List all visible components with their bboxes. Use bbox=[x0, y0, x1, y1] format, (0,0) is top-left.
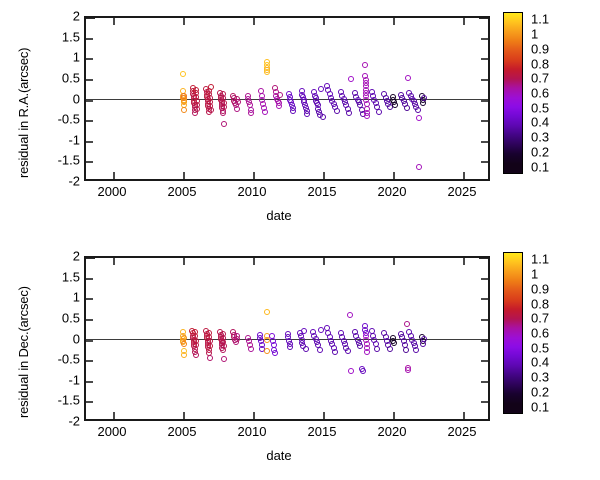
y-tick-mark bbox=[479, 258, 488, 259]
x-tick-labels-dec: 200020052010201520202025 bbox=[84, 424, 490, 444]
data-point bbox=[221, 121, 227, 127]
x-tick-label: 2025 bbox=[448, 424, 477, 439]
x-tick-label: 2010 bbox=[238, 424, 267, 439]
data-point bbox=[180, 71, 186, 77]
data-point bbox=[405, 75, 411, 81]
data-point bbox=[421, 336, 427, 342]
colorbar-band bbox=[504, 309, 522, 318]
y-tick-label: 1 bbox=[73, 290, 80, 305]
data-point bbox=[181, 352, 187, 358]
colorbar-band bbox=[504, 394, 522, 403]
y-tick-label: 1.5 bbox=[62, 29, 80, 44]
data-point bbox=[264, 348, 270, 354]
x-tick-label: 2005 bbox=[168, 424, 197, 439]
y-tick-mark bbox=[86, 340, 93, 342]
y-tick-mark bbox=[481, 278, 488, 280]
colorbar-band bbox=[504, 281, 522, 290]
x-tick-mark bbox=[393, 172, 395, 179]
data-point bbox=[364, 349, 370, 355]
y-tick-mark bbox=[481, 360, 488, 362]
colorbar-band bbox=[504, 107, 522, 116]
y-tick-mark bbox=[481, 38, 488, 40]
colorbar-band bbox=[504, 347, 522, 356]
y-axis-label-dec: residual in Dec.(arcsec) bbox=[16, 286, 31, 418]
y-tick-label: 1.5 bbox=[62, 269, 80, 284]
colorbar-band bbox=[504, 385, 522, 394]
y-tick-mark bbox=[86, 319, 93, 321]
data-point bbox=[320, 114, 326, 120]
colorbar-band bbox=[504, 145, 522, 154]
y-tick-label: 0.5 bbox=[62, 70, 80, 85]
colorbar-tick-label: 0.4 bbox=[531, 115, 549, 130]
data-point bbox=[413, 347, 419, 353]
y-tick-label: -2 bbox=[68, 174, 80, 189]
data-point bbox=[181, 93, 187, 99]
data-point bbox=[404, 105, 410, 111]
x-tick-mark bbox=[113, 18, 115, 25]
x-tick-mark bbox=[113, 172, 115, 179]
y-tick-mark bbox=[481, 161, 488, 163]
x-tick-mark bbox=[253, 412, 255, 419]
y-tick-label: 2 bbox=[73, 249, 80, 264]
colorbar-band bbox=[504, 366, 522, 375]
data-point bbox=[181, 341, 187, 347]
colorbar-tick-label: 1 bbox=[531, 267, 538, 282]
panel-residual-ra: residual in R.A.(arcsec) 21.510.50-0.5-1… bbox=[0, 0, 600, 240]
y-tick-mark bbox=[481, 381, 488, 383]
y-tick-label: 0 bbox=[73, 331, 80, 346]
colorbar-band bbox=[504, 79, 522, 88]
y-tick-label: 1 bbox=[73, 50, 80, 65]
colorbar-band bbox=[504, 154, 522, 163]
colorbar-tick-label: 1.1 bbox=[531, 252, 549, 267]
colorbar-band bbox=[504, 338, 522, 347]
data-point bbox=[262, 109, 268, 115]
data-point bbox=[272, 350, 278, 356]
x-axis-label-dec: date bbox=[0, 448, 600, 463]
colorbar-band bbox=[504, 253, 522, 262]
colorbar-band bbox=[504, 22, 522, 31]
colorbar-tick-label: 0.2 bbox=[531, 144, 549, 159]
x-tick-mark bbox=[323, 172, 325, 179]
y-tick-mark bbox=[479, 18, 488, 19]
y-tick-labels-dec: 21.510.50-0.5-1-1.5-2 bbox=[30, 256, 80, 421]
data-point bbox=[317, 347, 323, 353]
colorbar-tick-label: 0.4 bbox=[531, 355, 549, 370]
colorbar-band bbox=[504, 404, 522, 413]
y-tick-label: -1 bbox=[68, 132, 80, 147]
y-tick-mark bbox=[481, 79, 488, 81]
plot-frame-dec bbox=[84, 256, 490, 421]
colorbar-tick-label: 0.3 bbox=[531, 370, 549, 385]
colorbar-band bbox=[504, 32, 522, 41]
colorbar-tick-label: 0.1 bbox=[531, 399, 549, 414]
data-point bbox=[304, 111, 310, 117]
plot-area-ra bbox=[86, 18, 488, 179]
x-tick-mark bbox=[183, 18, 185, 25]
data-point bbox=[392, 102, 398, 108]
y-tick-label: 0 bbox=[73, 91, 80, 106]
data-point bbox=[234, 106, 240, 112]
y-tick-mark bbox=[86, 38, 93, 40]
y-tick-mark bbox=[86, 298, 93, 300]
data-point bbox=[376, 109, 382, 115]
colorbar-tick-label: 0.5 bbox=[531, 340, 549, 355]
colorbar-tick-label: 0.9 bbox=[531, 281, 549, 296]
colorbar-band bbox=[504, 41, 522, 50]
colorbar-tick-label: 1.1 bbox=[531, 12, 549, 27]
colorbar-tick-label: 0.1 bbox=[531, 159, 549, 174]
data-point bbox=[364, 113, 370, 119]
colorbar-tick-label: 0.7 bbox=[531, 71, 549, 86]
data-point bbox=[347, 312, 353, 318]
data-point bbox=[290, 108, 296, 114]
data-point bbox=[248, 110, 254, 116]
colorbar-band bbox=[504, 51, 522, 60]
y-tick-mark bbox=[86, 58, 93, 60]
y-axis-label-ra: residual in R.A.(arcsec) bbox=[16, 48, 31, 178]
data-point bbox=[362, 62, 368, 68]
x-tick-label: 2010 bbox=[238, 184, 267, 199]
data-point bbox=[405, 367, 411, 373]
y-tick-mark bbox=[481, 100, 488, 102]
colorbar-tick-labels-dec: 1.110.90.80.70.60.50.40.30.20.1 bbox=[531, 252, 591, 414]
y-tick-label: -1.5 bbox=[58, 153, 80, 168]
colorbar-tick-labels-ra: 1.110.90.80.70.60.50.40.30.20.1 bbox=[531, 12, 591, 174]
colorbar-tick-label: 0.8 bbox=[531, 56, 549, 71]
colorbar-band bbox=[504, 328, 522, 337]
x-tick-label: 2000 bbox=[98, 184, 127, 199]
x-tick-mark bbox=[113, 412, 115, 419]
data-point bbox=[345, 348, 351, 354]
y-tick-label: -0.5 bbox=[58, 352, 80, 367]
colorbar-band bbox=[504, 13, 522, 22]
x-tick-mark bbox=[113, 258, 115, 265]
colorbar-tick-label: 0.9 bbox=[531, 41, 549, 56]
x-tick-mark bbox=[253, 258, 255, 265]
data-point bbox=[416, 164, 422, 170]
x-tick-mark bbox=[463, 172, 465, 179]
y-tick-mark bbox=[86, 100, 93, 102]
colorbar-band bbox=[504, 262, 522, 271]
data-point bbox=[303, 346, 309, 352]
y-tick-mark bbox=[481, 58, 488, 60]
colorbar-band bbox=[504, 126, 522, 135]
data-point bbox=[348, 368, 354, 374]
data-point bbox=[332, 349, 338, 355]
y-tick-mark bbox=[481, 401, 488, 403]
data-point bbox=[360, 368, 366, 374]
y-tick-mark bbox=[86, 381, 93, 383]
y-tick-mark bbox=[86, 278, 93, 280]
data-point bbox=[403, 347, 409, 353]
data-point bbox=[276, 103, 282, 109]
colorbar-tick-label: 1 bbox=[531, 27, 538, 42]
y-tick-mark bbox=[481, 141, 488, 143]
data-point bbox=[208, 107, 214, 113]
colorbar-tick-label: 0.3 bbox=[531, 130, 549, 145]
y-tick-label: 2 bbox=[73, 9, 80, 24]
colorbar-band bbox=[504, 88, 522, 97]
x-tick-mark bbox=[463, 18, 465, 25]
x-tick-mark bbox=[183, 172, 185, 179]
data-point bbox=[194, 106, 200, 112]
plot-frame-ra bbox=[84, 16, 490, 181]
x-tick-label: 2020 bbox=[378, 424, 407, 439]
data-point bbox=[207, 343, 213, 349]
colorbar-dec bbox=[503, 252, 523, 414]
data-point bbox=[415, 107, 421, 113]
colorbar-band bbox=[504, 60, 522, 69]
y-tick-labels-ra: 21.510.50-0.5-1-1.5-2 bbox=[30, 16, 80, 181]
y-tick-mark bbox=[481, 319, 488, 321]
x-tick-mark bbox=[253, 172, 255, 179]
colorbar-tick-label: 0.7 bbox=[531, 311, 549, 326]
x-tick-mark bbox=[393, 258, 395, 265]
x-tick-mark bbox=[463, 258, 465, 265]
x-tick-mark bbox=[463, 412, 465, 419]
y-tick-mark bbox=[481, 340, 488, 342]
data-point bbox=[221, 343, 227, 349]
y-tick-mark bbox=[86, 18, 95, 19]
data-point bbox=[220, 110, 226, 116]
x-tick-mark bbox=[323, 412, 325, 419]
plot-area-dec bbox=[86, 258, 488, 419]
colorbar-tick-label: 0.5 bbox=[531, 100, 549, 115]
colorbar-band bbox=[504, 69, 522, 78]
x-tick-mark bbox=[183, 412, 185, 419]
data-point bbox=[221, 356, 227, 362]
colorbar-tick-label: 0.2 bbox=[531, 384, 549, 399]
data-point bbox=[277, 92, 283, 98]
y-tick-mark bbox=[86, 79, 93, 81]
x-tick-label: 2025 bbox=[448, 184, 477, 199]
x-axis-label-ra: date bbox=[0, 208, 600, 223]
y-tick-mark bbox=[481, 298, 488, 300]
colorbar-band bbox=[504, 375, 522, 384]
data-point bbox=[264, 69, 270, 75]
colorbar-band bbox=[504, 291, 522, 300]
y-tick-label: -2 bbox=[68, 414, 80, 429]
colorbar-tick-label: 0.6 bbox=[531, 326, 549, 341]
y-tick-mark bbox=[86, 258, 95, 259]
y-tick-label: -0.5 bbox=[58, 112, 80, 127]
data-point bbox=[346, 110, 352, 116]
data-point bbox=[421, 95, 427, 101]
y-tick-mark bbox=[86, 141, 93, 143]
colorbar-band bbox=[504, 98, 522, 107]
colorbar-ra bbox=[503, 12, 523, 174]
x-tick-label: 2000 bbox=[98, 424, 127, 439]
colorbar-tick-label: 0.8 bbox=[531, 296, 549, 311]
data-point bbox=[208, 84, 214, 90]
x-tick-label: 2015 bbox=[308, 424, 337, 439]
y-tick-label: -1.5 bbox=[58, 393, 80, 408]
data-point bbox=[221, 104, 227, 110]
data-point bbox=[264, 309, 270, 315]
x-tick-mark bbox=[183, 258, 185, 265]
y-tick-mark bbox=[481, 120, 488, 122]
y-tick-mark bbox=[86, 161, 93, 163]
panel-residual-dec: residual in Dec.(arcsec) 21.510.50-0.5-1… bbox=[0, 240, 600, 480]
data-point bbox=[207, 355, 213, 361]
colorbar-band bbox=[504, 116, 522, 125]
data-point bbox=[374, 346, 380, 352]
y-tick-mark bbox=[86, 360, 93, 362]
x-tick-mark bbox=[323, 18, 325, 25]
colorbar-tick-label: 0.6 bbox=[531, 86, 549, 101]
x-tick-mark bbox=[393, 412, 395, 419]
x-tick-mark bbox=[253, 18, 255, 25]
data-point bbox=[248, 346, 254, 352]
data-point bbox=[301, 328, 307, 334]
x-tick-label: 2015 bbox=[308, 184, 337, 199]
colorbar-band bbox=[504, 319, 522, 328]
data-point bbox=[235, 99, 241, 105]
data-point bbox=[287, 344, 293, 350]
data-point bbox=[387, 346, 393, 352]
x-tick-mark bbox=[323, 258, 325, 265]
colorbar-band bbox=[504, 300, 522, 309]
data-point bbox=[416, 115, 422, 121]
x-tick-label: 2020 bbox=[378, 184, 407, 199]
y-tick-label: 0.5 bbox=[62, 310, 80, 325]
y-tick-mark bbox=[86, 120, 93, 122]
data-point bbox=[404, 321, 410, 327]
colorbar-band bbox=[504, 135, 522, 144]
data-point bbox=[234, 336, 240, 342]
colorbar-band bbox=[504, 164, 522, 173]
x-tick-labels-ra: 200020052010201520202025 bbox=[84, 184, 490, 204]
y-tick-label: -1 bbox=[68, 372, 80, 387]
colorbar-band bbox=[504, 272, 522, 281]
data-point bbox=[334, 108, 340, 114]
data-point bbox=[357, 343, 363, 349]
x-tick-mark bbox=[393, 18, 395, 25]
y-tick-mark bbox=[86, 401, 93, 403]
data-point bbox=[193, 342, 199, 348]
data-point bbox=[181, 107, 187, 113]
data-point bbox=[391, 340, 397, 346]
data-point bbox=[193, 352, 199, 358]
x-tick-label: 2005 bbox=[168, 184, 197, 199]
colorbar-band bbox=[504, 356, 522, 365]
data-point bbox=[348, 76, 354, 82]
